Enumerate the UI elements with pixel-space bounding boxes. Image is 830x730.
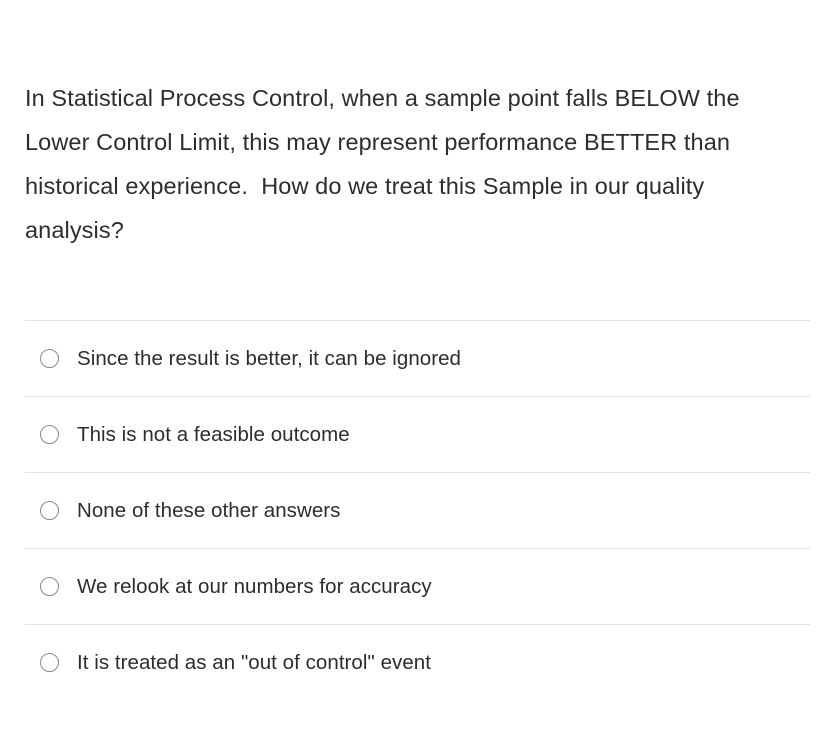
quiz-question-card: In Statistical Process Control, when a s… bbox=[0, 0, 830, 730]
radio-circle-shape bbox=[40, 349, 59, 368]
answer-option-row[interactable]: None of these other answers bbox=[25, 472, 810, 548]
radio-unselected-icon[interactable] bbox=[37, 347, 61, 371]
answer-option-label: It is treated as an "out of control" eve… bbox=[77, 650, 431, 676]
answer-option-row[interactable]: Since the result is better, it can be ig… bbox=[25, 320, 810, 396]
radio-unselected-icon[interactable] bbox=[37, 499, 61, 523]
answer-option-label: None of these other answers bbox=[77, 498, 340, 524]
answer-option-label: We relook at our numbers for accuracy bbox=[77, 574, 432, 600]
radio-circle-shape bbox=[40, 501, 59, 520]
radio-unselected-icon[interactable] bbox=[37, 651, 61, 675]
question-block: In Statistical Process Control, when a s… bbox=[25, 76, 790, 252]
radio-circle-shape bbox=[40, 425, 59, 444]
radio-unselected-icon[interactable] bbox=[37, 423, 61, 447]
radio-unselected-icon[interactable] bbox=[37, 575, 61, 599]
answer-option-row[interactable]: It is treated as an "out of control" eve… bbox=[25, 624, 810, 700]
answer-option-label: Since the result is better, it can be ig… bbox=[77, 346, 461, 372]
radio-circle-shape bbox=[40, 653, 59, 672]
answer-option-row[interactable]: We relook at our numbers for accuracy bbox=[25, 548, 810, 624]
radio-circle-shape bbox=[40, 577, 59, 596]
question-text: In Statistical Process Control, when a s… bbox=[25, 76, 790, 252]
answer-option-label: This is not a feasible outcome bbox=[77, 422, 350, 448]
answer-options-list: Since the result is better, it can be ig… bbox=[0, 320, 830, 700]
answer-option-row[interactable]: This is not a feasible outcome bbox=[25, 396, 810, 472]
